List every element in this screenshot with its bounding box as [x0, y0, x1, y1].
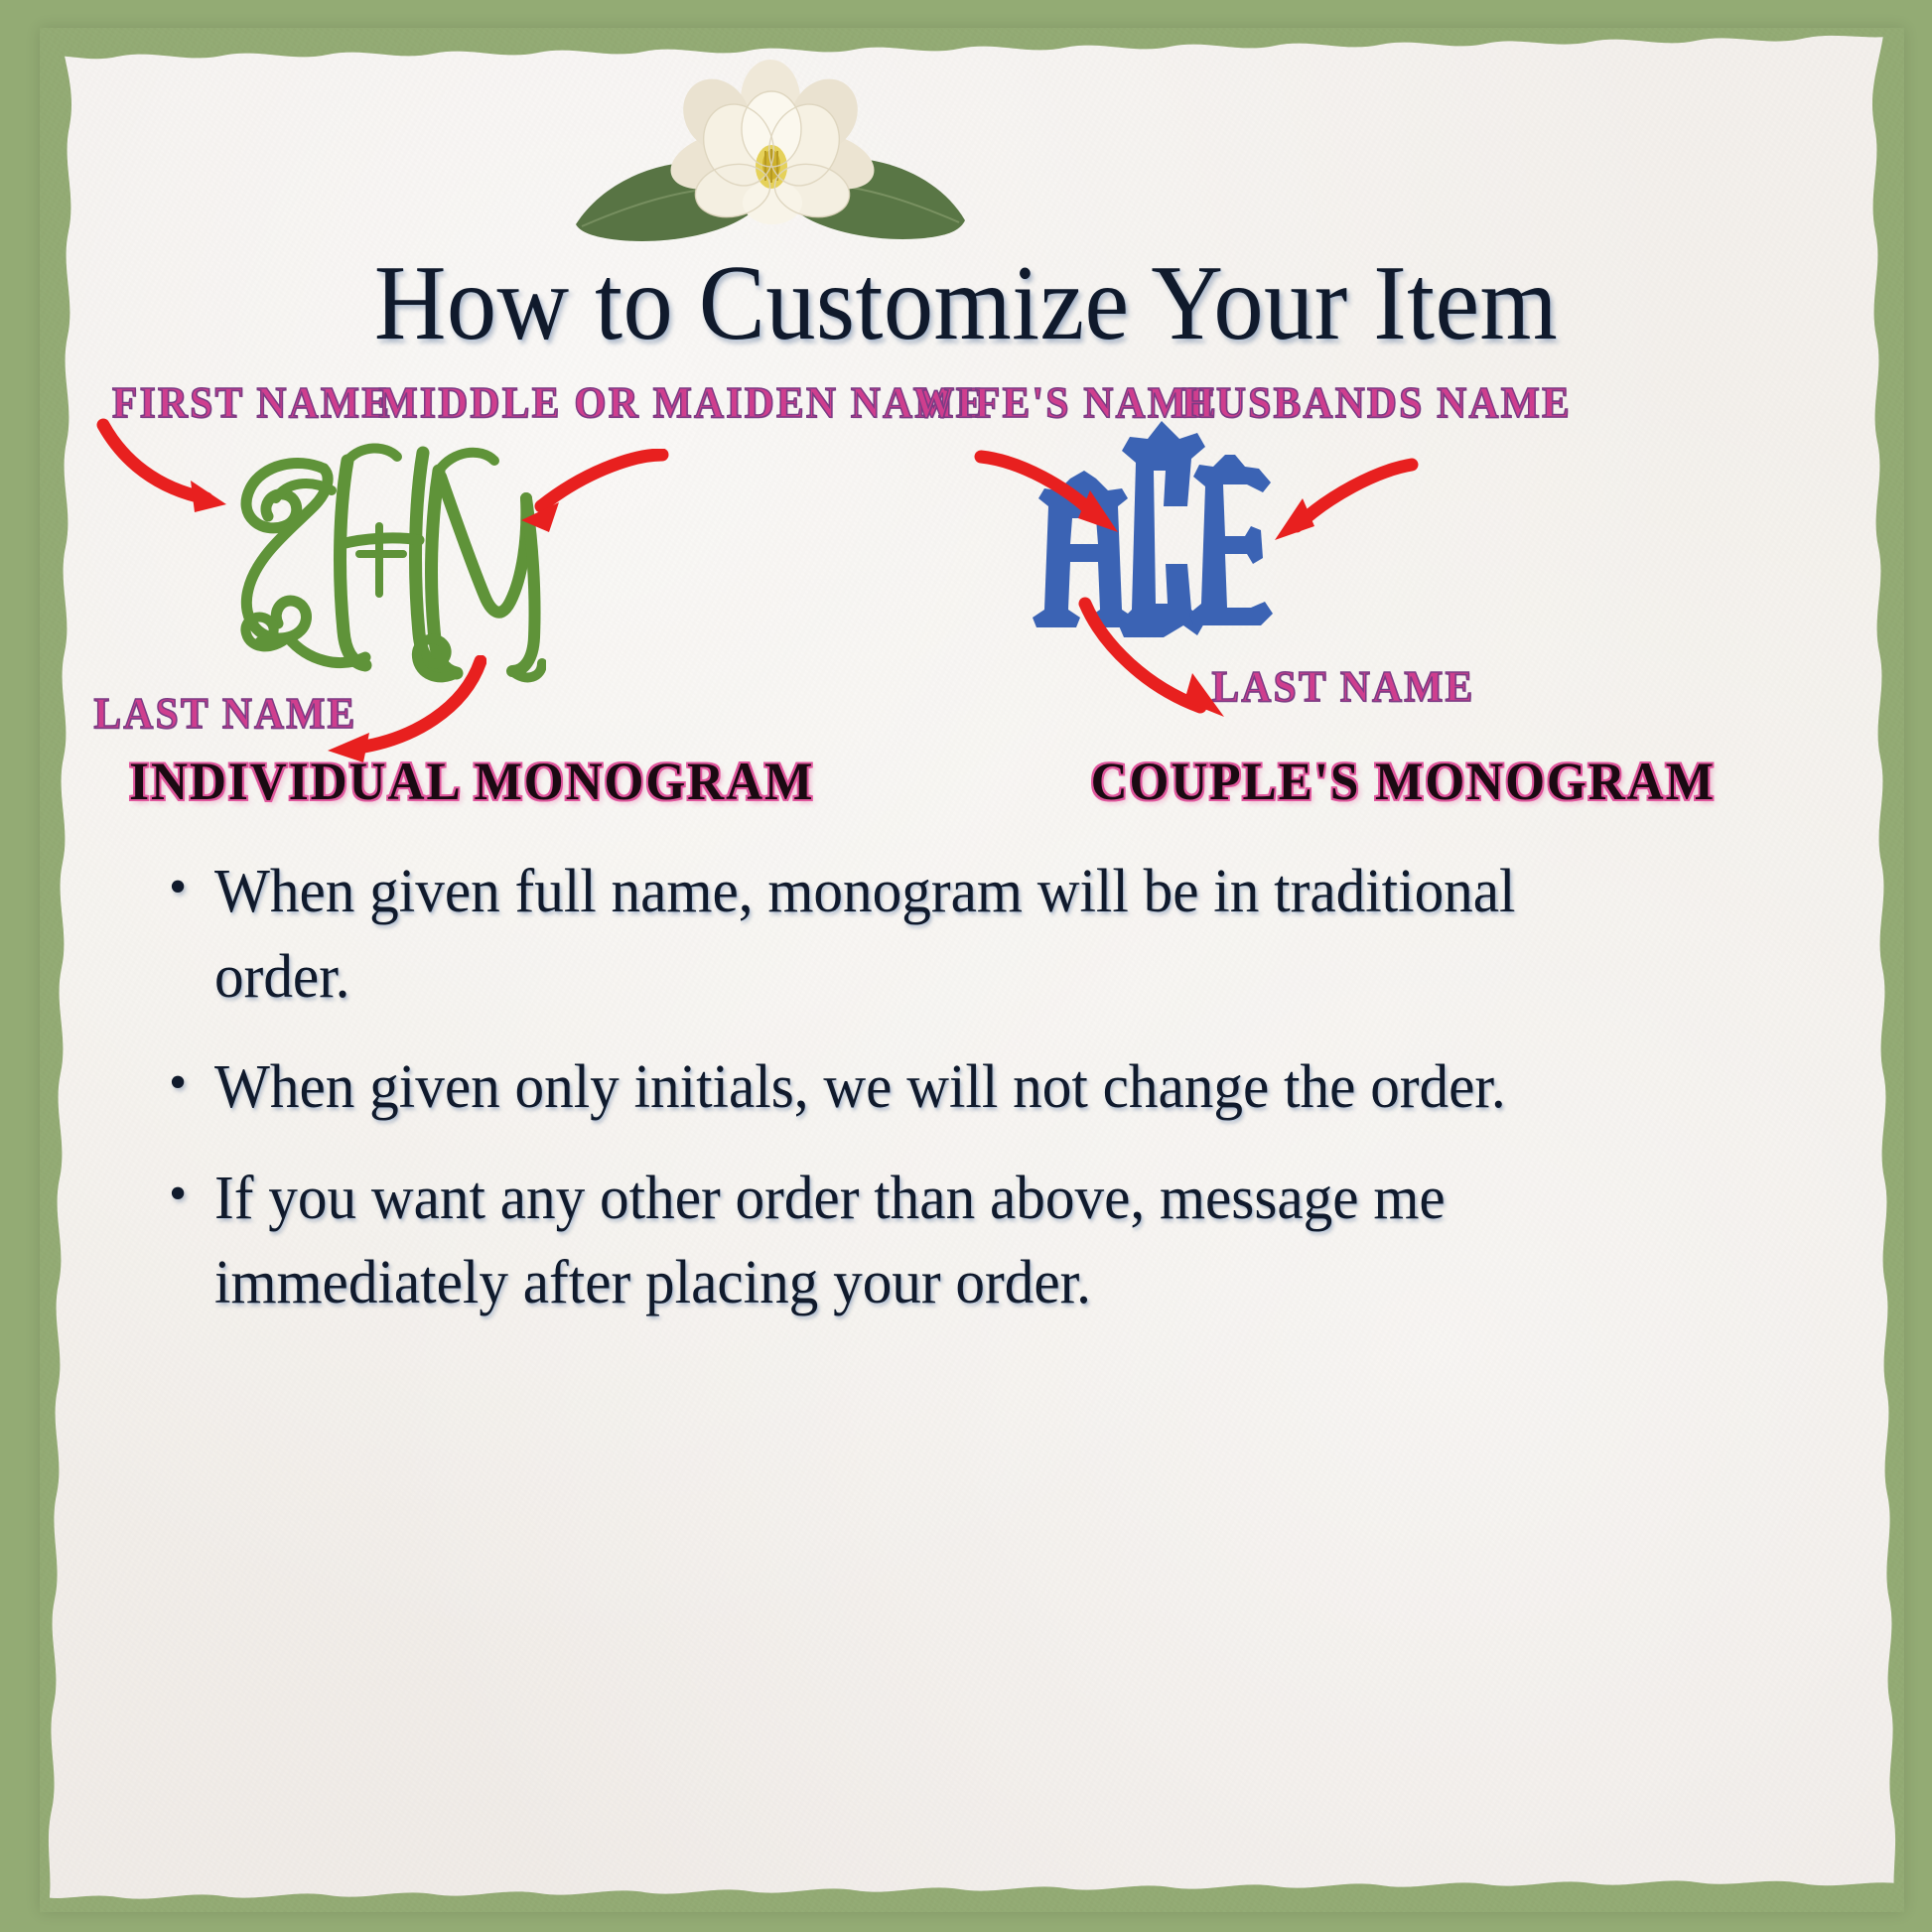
label-last-name-couple: LAST NAME	[1211, 665, 1474, 709]
bullet-marker-icon: •	[169, 850, 214, 924]
monogram-individual-shm	[228, 427, 546, 687]
bullet-marker-icon: •	[169, 1045, 214, 1120]
instructions-list: • When given full name, monogram will be…	[169, 850, 1579, 1352]
label-last-name-individual: LAST NAME	[93, 692, 356, 736]
heading-individual-monogram: INDIVIDUAL MONOGRAM	[129, 755, 814, 808]
bullet-marker-icon: •	[169, 1157, 214, 1231]
list-item-text: When given only initials, we will not ch…	[214, 1045, 1517, 1131]
monogram-couple-ace	[1015, 415, 1285, 641]
list-item: • When given full name, monogram will be…	[169, 850, 1579, 1020]
list-item: • When given only initials, we will not …	[169, 1045, 1579, 1131]
list-item-text: If you want any other order than above, …	[214, 1157, 1517, 1326]
magnolia-flower-icon	[568, 58, 973, 256]
torn-edge-bottom	[40, 1878, 1904, 1912]
list-item: • If you want any other order than above…	[169, 1157, 1579, 1326]
label-middle-or-maiden-name: MIDDLE OR MAIDEN NAME	[379, 381, 986, 425]
torn-edge-top	[40, 28, 1904, 62]
heading-couples-monogram: COUPLE'S MONOGRAM	[1091, 755, 1716, 808]
infographic-canvas: How to Customize Your Item FIRST NAME MI…	[0, 0, 1932, 1932]
label-first-name: FIRST NAME	[112, 381, 391, 425]
torn-edge-right	[1870, 28, 1904, 1912]
list-item-text: When given full name, monogram will be i…	[214, 850, 1517, 1020]
page-title: How to Customize Your Item	[68, 250, 1864, 357]
